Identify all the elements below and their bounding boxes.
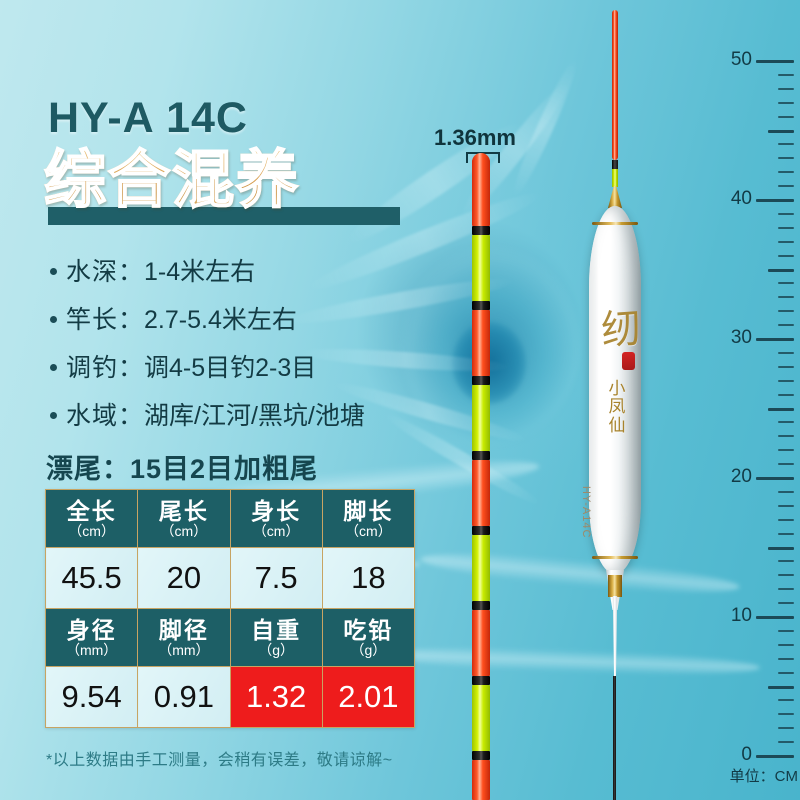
feature-label: 水深： <box>66 252 144 288</box>
float-product-image: 纫 小凤仙 HY-A14C <box>580 10 650 790</box>
header-name: 脚径 <box>138 618 229 642</box>
table-header-cell: 全长 （cm） <box>46 490 138 548</box>
ruler-tick-minor <box>778 588 794 590</box>
table-row: 全长 （cm） 尾长 （cm） 身长 （cm） 脚长 （cm） <box>46 490 415 548</box>
ruler-tick-minor <box>778 713 794 715</box>
tail-segment <box>472 310 490 376</box>
ruler-tick-minor <box>778 116 794 118</box>
ruler-tick-minor <box>778 143 794 145</box>
ruler-tick-minor <box>778 185 794 187</box>
ruler-tick-minor <box>778 366 794 368</box>
ruler-tick-minor <box>778 241 794 243</box>
float-gold-collar-bottom <box>608 575 622 597</box>
header-unit: （g） <box>323 643 414 658</box>
ruler-label: 0 <box>710 744 752 766</box>
ruler-label: 20 <box>710 466 752 488</box>
ruler-tick-minor <box>778 602 794 604</box>
tail-segment-divider <box>472 751 490 760</box>
ruler-tick-major <box>756 755 794 758</box>
ruler-tick-minor <box>778 394 794 396</box>
table-row: 45.5 20 7.5 18 <box>46 548 415 609</box>
ruler-tick-minor <box>778 157 794 159</box>
feature-value: 1-4米左右 <box>144 252 255 288</box>
tail-segment-divider <box>472 601 490 610</box>
product-model: HY-A 14C <box>48 94 248 143</box>
ruler-tick-minor <box>778 102 794 104</box>
tail-segment-divider <box>472 526 490 535</box>
float-brand-code: HY-A14C <box>580 486 592 546</box>
ruler-tick-minor <box>778 491 794 493</box>
float-brand-name: 小凤仙 <box>607 380 627 435</box>
ruler-tick-major <box>756 477 794 480</box>
tail-segment <box>472 760 490 800</box>
header-unit: （cm） <box>231 524 322 539</box>
float-tip-segment <box>612 169 618 187</box>
ruler-unit-label: 单位：CM <box>730 765 798 786</box>
header-name: 身长 <box>231 499 322 523</box>
tail-segment-divider <box>472 376 490 385</box>
ruler-tick-minor <box>778 727 794 729</box>
list-item: 竿长： 2.7-5.4米左右 <box>50 300 365 336</box>
ruler-tick-minor <box>778 519 794 521</box>
table-value-cell: 45.5 <box>46 548 138 609</box>
table-header-cell: 自重 （g） <box>230 609 322 667</box>
float-gold-ring <box>592 556 638 559</box>
list-item: 水深： 1-4米左右 <box>50 252 365 288</box>
ruler-tick-major <box>756 338 794 341</box>
ruler-tick-minor <box>778 505 794 507</box>
header-unit: （cm） <box>323 524 414 539</box>
float-stem-lower <box>613 676 616 800</box>
tail-segment-divider <box>472 301 490 310</box>
float-gold-collar-top <box>608 186 622 208</box>
float-tip-marker <box>612 160 618 169</box>
header-unit: （cm） <box>138 524 229 539</box>
bullet-dot-icon <box>50 412 57 419</box>
ruler-tick-minor <box>778 310 794 312</box>
ruler-tick-major <box>756 60 794 63</box>
ruler-label: 10 <box>710 605 752 627</box>
ruler-tick-minor <box>778 463 794 465</box>
tail-segment <box>472 610 490 676</box>
float-tip <box>612 10 618 160</box>
feature-value: 调4-5目钓2-3目 <box>144 348 316 384</box>
table-header-cell: 身径 （mm） <box>46 609 138 667</box>
header-unit: （mm） <box>46 643 137 658</box>
float-gold-ring <box>592 222 638 225</box>
ruler-tick-minor <box>778 533 794 535</box>
header-unit: （mm） <box>138 643 229 658</box>
feather-eye-outer <box>400 245 580 445</box>
ruler-tick-minor <box>778 227 794 229</box>
bullet-dot-icon <box>50 364 57 371</box>
ruler-tick-minor <box>768 269 794 272</box>
float-red-seal-icon <box>622 352 635 370</box>
table-value-cell-highlight: 1.32 <box>230 667 322 728</box>
ruler-tick-minor <box>778 435 794 437</box>
header-name: 尾长 <box>138 499 229 523</box>
measurement-footnote: *以上数据由手工测量，会稍有误差，敬请谅解~ <box>46 746 393 770</box>
ruler-tick-minor <box>778 644 794 646</box>
product-poster: HY-A 14C 综合混养 水深： 1-4米左右 竿长： 2.7-5.4米左右 … <box>0 0 800 800</box>
ruler-tick-minor <box>778 88 794 90</box>
headline-block: 综合混养 <box>44 150 300 212</box>
header-unit: （cm） <box>46 524 137 539</box>
ruler-tick-minor <box>778 574 794 576</box>
feature-label: 水域： <box>66 396 144 432</box>
ruler-label: 30 <box>710 327 752 349</box>
tail-spec-heading: 漂尾：15目2目加粗尾 <box>46 447 318 486</box>
tail-segment-divider <box>472 676 490 685</box>
ruler-tick-minor <box>778 324 794 326</box>
table-row: 9.54 0.91 1.32 2.01 <box>46 667 415 728</box>
ruler-tick-minor <box>778 741 794 743</box>
table-value-cell: 0.91 <box>138 667 230 728</box>
feature-label: 调钓： <box>66 348 144 384</box>
ruler-tick-minor <box>778 352 794 354</box>
ruler-tick-minor <box>778 282 794 284</box>
ruler-tick-minor <box>778 296 794 298</box>
ruler-tick-minor <box>768 547 794 550</box>
ruler-tick-minor <box>778 560 794 562</box>
bullet-dot-icon <box>50 268 57 275</box>
header-name: 自重 <box>231 618 322 642</box>
ruler-tick-major <box>756 616 794 619</box>
ruler-tick-minor <box>778 699 794 701</box>
ruler-label: 40 <box>710 188 752 210</box>
tail-segment <box>472 235 490 301</box>
header-name: 全长 <box>46 499 137 523</box>
ruler-tick-minor <box>768 130 794 133</box>
ruler-tick-minor <box>768 408 794 411</box>
header-name: 吃铅 <box>323 618 414 642</box>
tail-segment <box>472 160 490 226</box>
table-value-cell: 18 <box>322 548 414 609</box>
tail-segment-divider <box>472 226 490 235</box>
tail-segment <box>472 460 490 526</box>
ruler-tick-minor <box>778 630 794 632</box>
table-value-cell: 20 <box>138 548 230 609</box>
feature-label: 竿长： <box>66 300 144 336</box>
feature-value: 湖库/江河/黑坑/池塘 <box>144 396 365 432</box>
ruler-tick-minor <box>778 658 794 660</box>
ruler-tick-minor <box>778 255 794 257</box>
table-header-cell: 尾长 （cm） <box>138 490 230 548</box>
list-item: 调钓： 调4-5目钓2-3目 <box>50 348 365 384</box>
tail-segment-divider <box>472 451 490 460</box>
tail-segment <box>472 385 490 451</box>
measurement-ruler: 单位：CM 01020304050 <box>742 40 800 780</box>
float-body-highlight <box>602 216 605 564</box>
ruler-tick-minor <box>778 672 794 674</box>
spec-table: 全长 （cm） 尾长 （cm） 身长 （cm） 脚长 （cm） 45.5 20 … <box>45 489 415 728</box>
tail-segment <box>472 685 490 751</box>
header-name: 身径 <box>46 618 137 642</box>
header-unit: （g） <box>231 643 322 658</box>
bullet-dot-icon <box>50 316 57 323</box>
ruler-tick-minor <box>778 213 794 215</box>
ruler-tick-minor <box>778 421 794 423</box>
table-value-cell-highlight: 2.01 <box>322 667 414 728</box>
table-header-cell: 脚长 （cm） <box>322 490 414 548</box>
table-value-cell: 7.5 <box>230 548 322 609</box>
table-header-cell: 吃铅 （g） <box>322 609 414 667</box>
enlarged-float-tail <box>472 160 490 800</box>
table-value-cell: 9.54 <box>46 667 138 728</box>
ruler-tick-minor <box>778 171 794 173</box>
headline-text: 综合混养 <box>44 150 300 212</box>
feature-list: 水深： 1-4米左右 竿长： 2.7-5.4米左右 调钓： 调4-5目钓2-3目… <box>50 252 365 444</box>
table-row: 身径 （mm） 脚径 （mm） 自重 （g） 吃铅 （g） <box>46 609 415 667</box>
ruler-tick-minor <box>778 74 794 76</box>
feature-value: 2.7-5.4米左右 <box>144 300 297 336</box>
table-header-cell: 脚径 （mm） <box>138 609 230 667</box>
ruler-label: 50 <box>710 49 752 71</box>
ruler-tick-major <box>756 199 794 202</box>
list-item: 水域： 湖库/江河/黑坑/池塘 <box>50 396 365 432</box>
tip-diameter-label: 1.36mm <box>434 125 516 151</box>
ruler-tick-minor <box>778 380 794 382</box>
tail-segment <box>472 535 490 601</box>
table-header-cell: 身长 （cm） <box>230 490 322 548</box>
ruler-tick-minor <box>778 449 794 451</box>
header-name: 脚长 <box>323 499 414 523</box>
ruler-tick-minor <box>768 686 794 689</box>
